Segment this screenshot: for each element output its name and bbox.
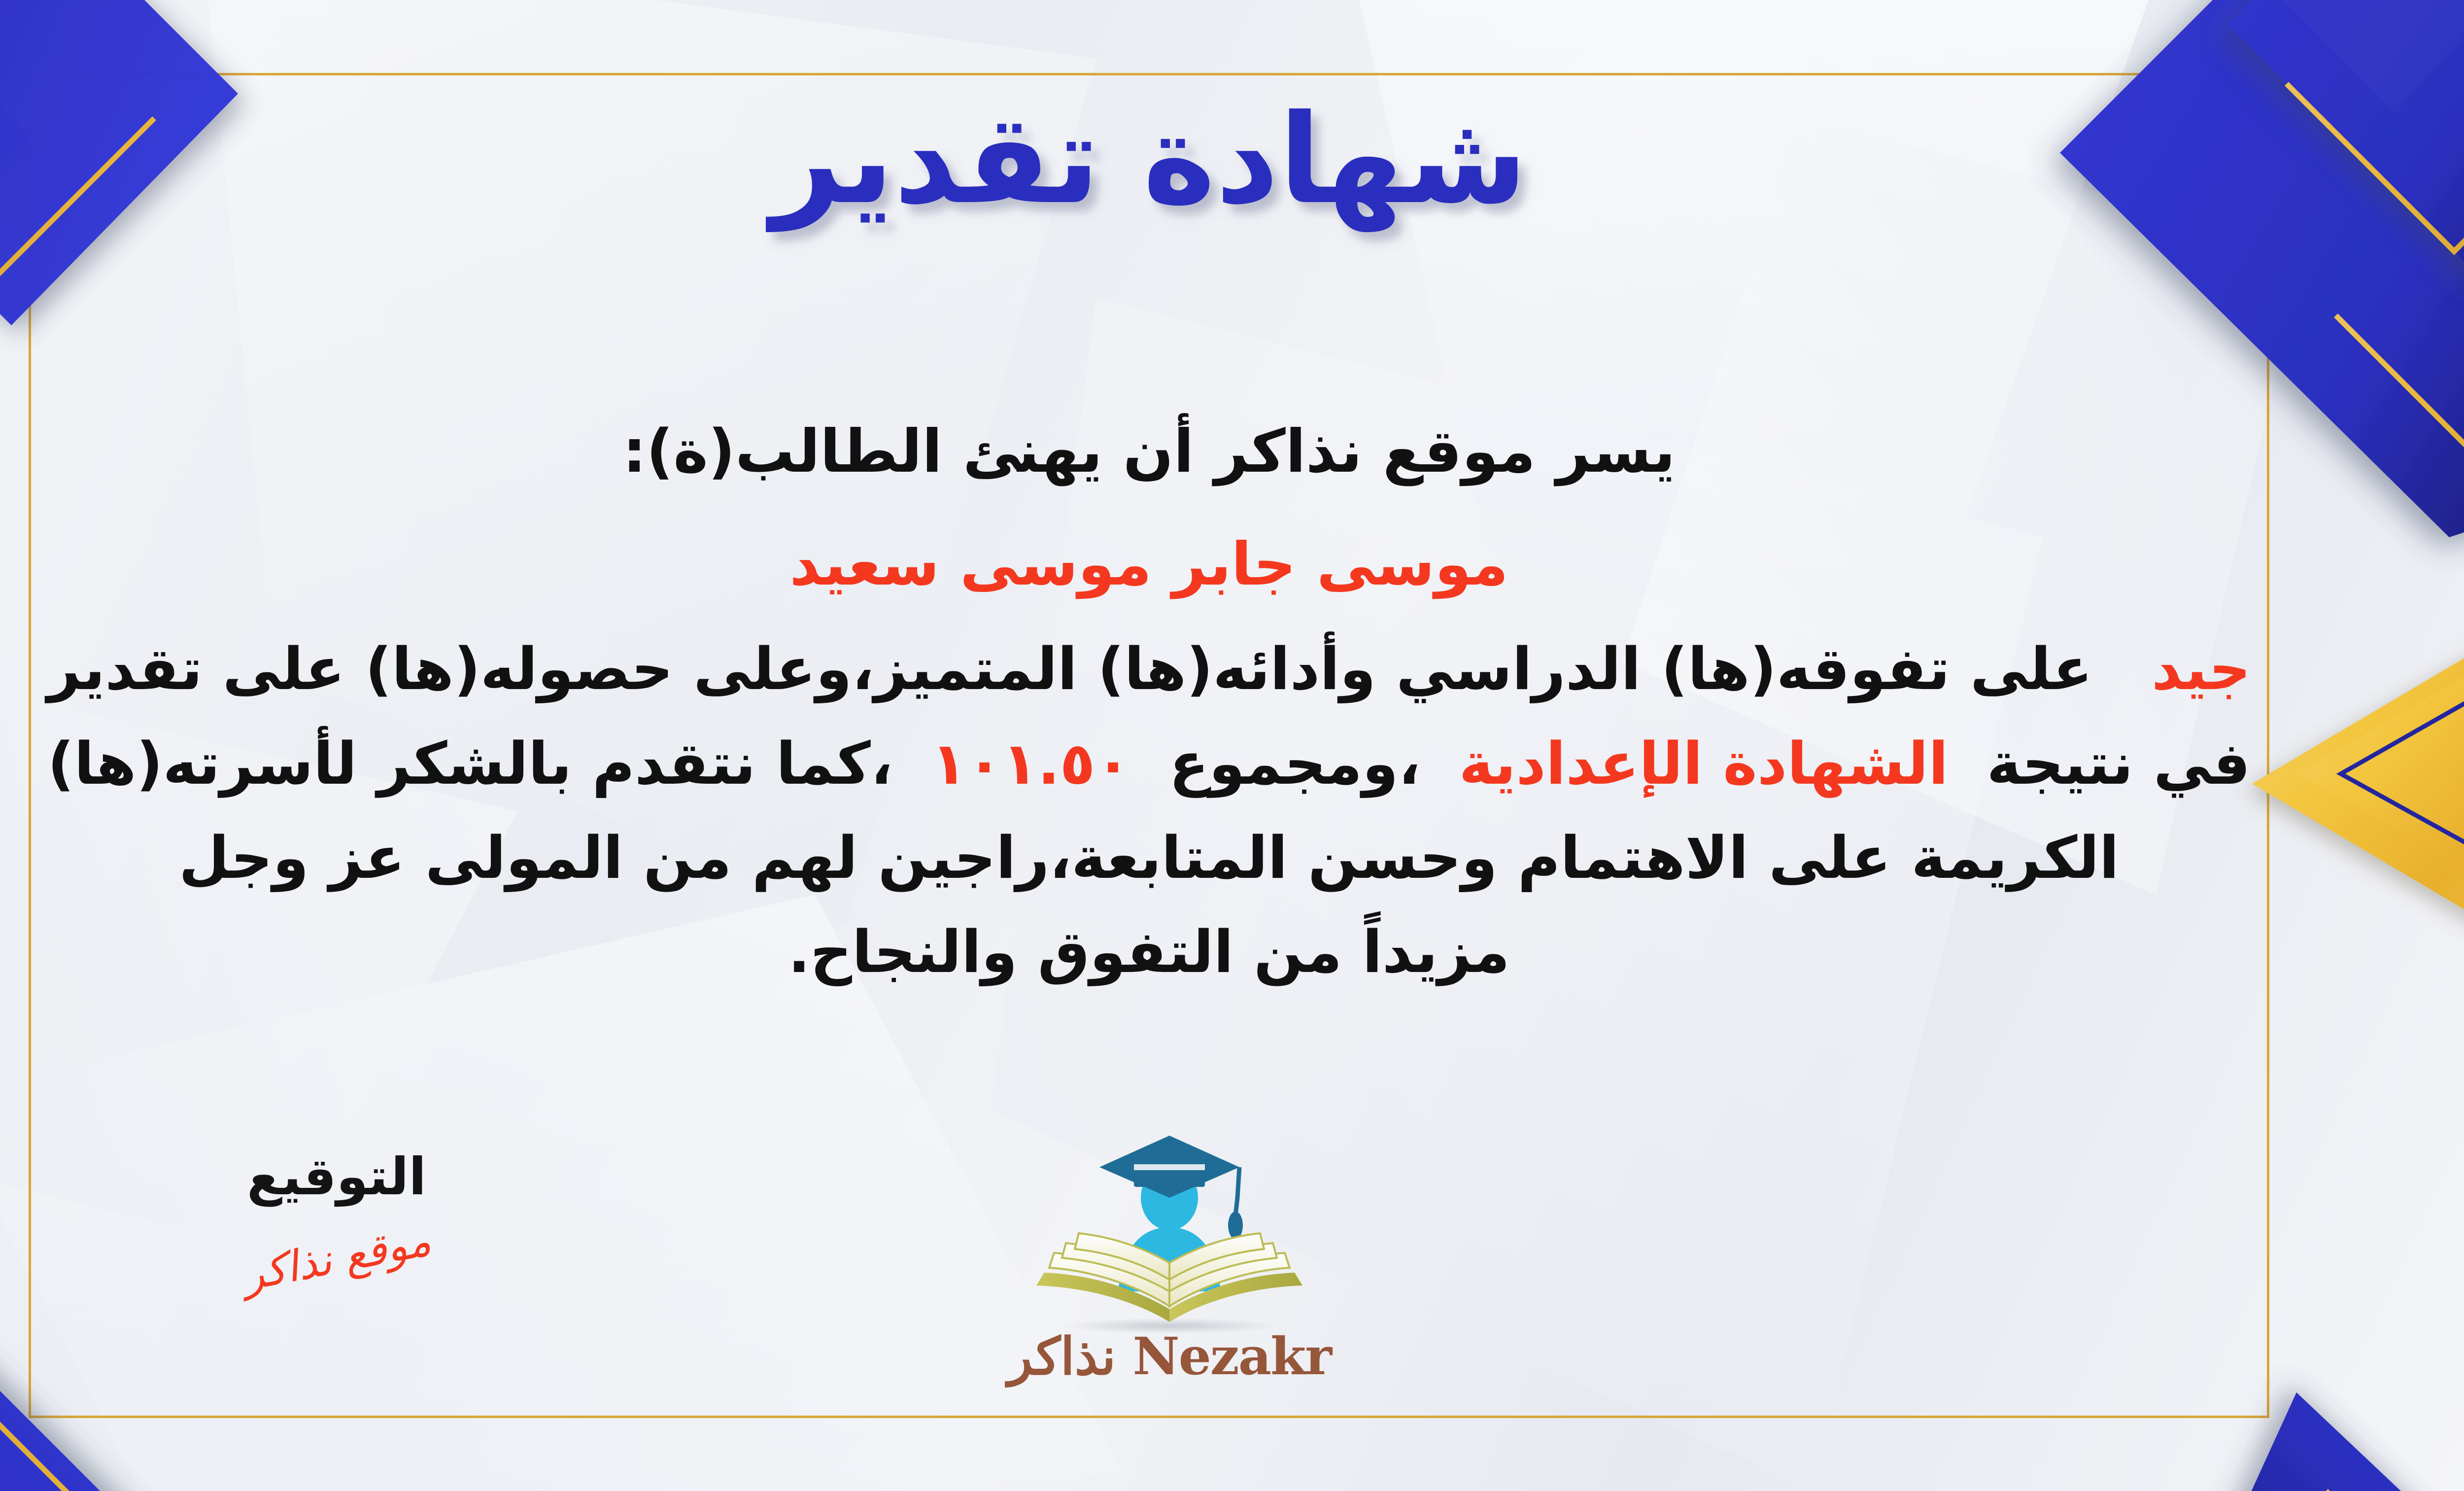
- result-line: في نتيجةالشهادة الإعدادية،ومجموع١٠١.٥٠،ك…: [0, 717, 2316, 811]
- graduation-cap-tassel-cord: [1235, 1167, 1239, 1215]
- achievement-line: جيدعلى تفوقه(ها) الدراسي وأدائه(ها) المت…: [0, 622, 2316, 716]
- family-thanks-line: الكريمة على الاهتمام وحسن المتابعة،راجين…: [0, 811, 2316, 905]
- closing-line: مزيداً من التفوق والنجاح.: [0, 905, 2316, 999]
- certificate-stage: الشهادة الإعدادية: [1459, 729, 1948, 798]
- graduation-book-icon: [1017, 1129, 1322, 1336]
- signature-label: التوقيع: [179, 1148, 494, 1205]
- grade-value: جيد: [2152, 635, 2251, 703]
- certificate-title-block: شهادة تقدير: [0, 54, 2464, 263]
- certificate-body: يسر موقع نذاكر أن يهنئ الطالب(ة): موسى ج…: [0, 404, 2316, 999]
- achievement-text: على تفوقه(ها) الدراسي وأدائه(ها) المتميز…: [47, 635, 2093, 703]
- graduation-cap-tassel: [1228, 1212, 1243, 1239]
- result-prefix: في نتيجة: [1987, 729, 2251, 798]
- thanks-text: ،كما نتقدم بالشكر لأسرته(ها): [47, 729, 892, 798]
- greeting-line: يسر موقع نذاكر أن يهنئ الطالب(ة):: [0, 404, 2316, 500]
- signature-mark: موقع نذاكر: [239, 1219, 434, 1297]
- total-score: ١٠١.٥٠: [931, 729, 1131, 798]
- certificate-title-calligraphy: شهادة تقدير: [656, 54, 1642, 261]
- logo-wordmark: Nezakr نذاكر: [953, 1331, 1386, 1382]
- total-label: ،ومجموع: [1169, 729, 1421, 798]
- site-logo: Nezakr نذاكر: [953, 1129, 1386, 1382]
- certificate-page: شهادة تقدير يسر موقع نذاكر أن يهنئ الطال…: [0, 0, 2464, 1491]
- certificate-title-text: شهادة تقدير: [765, 88, 1527, 233]
- signature-block: التوقيع موقع نذاكر: [179, 1148, 494, 1280]
- corner-ornament-bottom-right: [1981, 1008, 2464, 1491]
- student-name: موسى جابر موسى سعيد: [0, 520, 2316, 609]
